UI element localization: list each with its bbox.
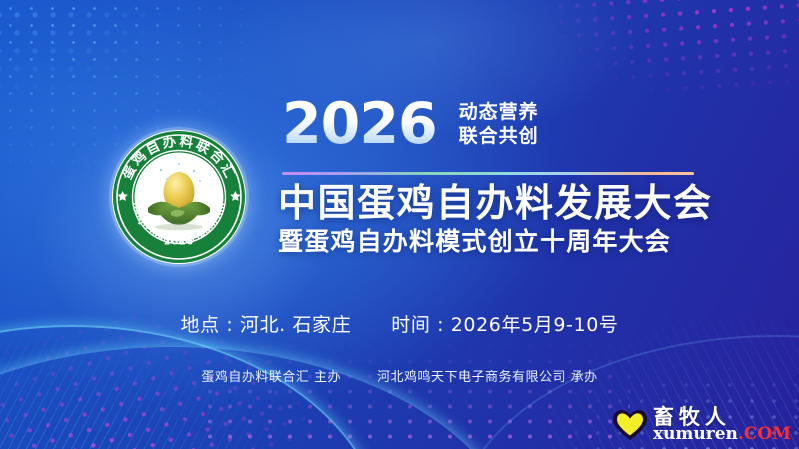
slogan-line-1: 动态营养 <box>459 101 539 124</box>
glow-arc-one-icon <box>0 325 384 449</box>
watermark-en-tld: .COM <box>738 424 791 444</box>
organizer-row: 蛋鸡自办料联合汇 主办 河北鸡鸣天下电子商务有限公司 承办 <box>0 366 799 385</box>
year-slogan-row: 2026 动态营养 联合共创 <box>282 96 539 153</box>
site-watermark: 畜牧人 xumuren.COM <box>612 407 791 443</box>
glow-arc-two-icon <box>0 345 524 449</box>
slogan-line-2: 联合共创 <box>459 125 539 148</box>
gradient-divider <box>282 172 694 175</box>
conference-poster: 蛋鸡自办料联合汇 DANJIZIBANLIAOLIANHEHUI 定制营养方案 … <box>0 0 799 449</box>
logo-year-text: 2016 <box>164 237 194 248</box>
watermark-en-name: xumuren <box>653 424 738 444</box>
slogan-block: 动态营养 联合共创 <box>459 101 539 147</box>
page-title: 中国蛋鸡自办料发展大会 <box>278 182 713 225</box>
event-location: 地点 : 河北. 石家庄 <box>180 310 351 337</box>
dot-spray-bottom-center-icon <box>200 339 630 449</box>
association-logo: 蛋鸡自办料联合汇 DANJIZIBANLIAOLIANHEHUI 定制营养方案 … <box>108 126 250 268</box>
year-heading: 2026 <box>282 96 437 153</box>
watermark-en: xumuren.COM <box>653 426 791 443</box>
event-time: 时间 : 2026年5月9-10号 <box>391 310 618 337</box>
heart-icon <box>612 408 648 442</box>
dot-grid-top-right-icon <box>482 0 799 189</box>
watermark-text: 畜牧人 xumuren.COM <box>653 407 791 443</box>
logo-base-shadow-icon <box>155 224 203 230</box>
event-host: 蛋鸡自办料联合汇 主办 <box>201 366 341 385</box>
event-meta-row: 地点 : 河北. 石家庄 时间 : 2026年5月9-10号 <box>0 310 799 337</box>
page-subtitle: 暨蛋鸡自办料模式创立十周年大会 <box>278 228 671 257</box>
event-organizer: 河北鸡鸣天下电子商务有限公司 承办 <box>377 366 598 385</box>
